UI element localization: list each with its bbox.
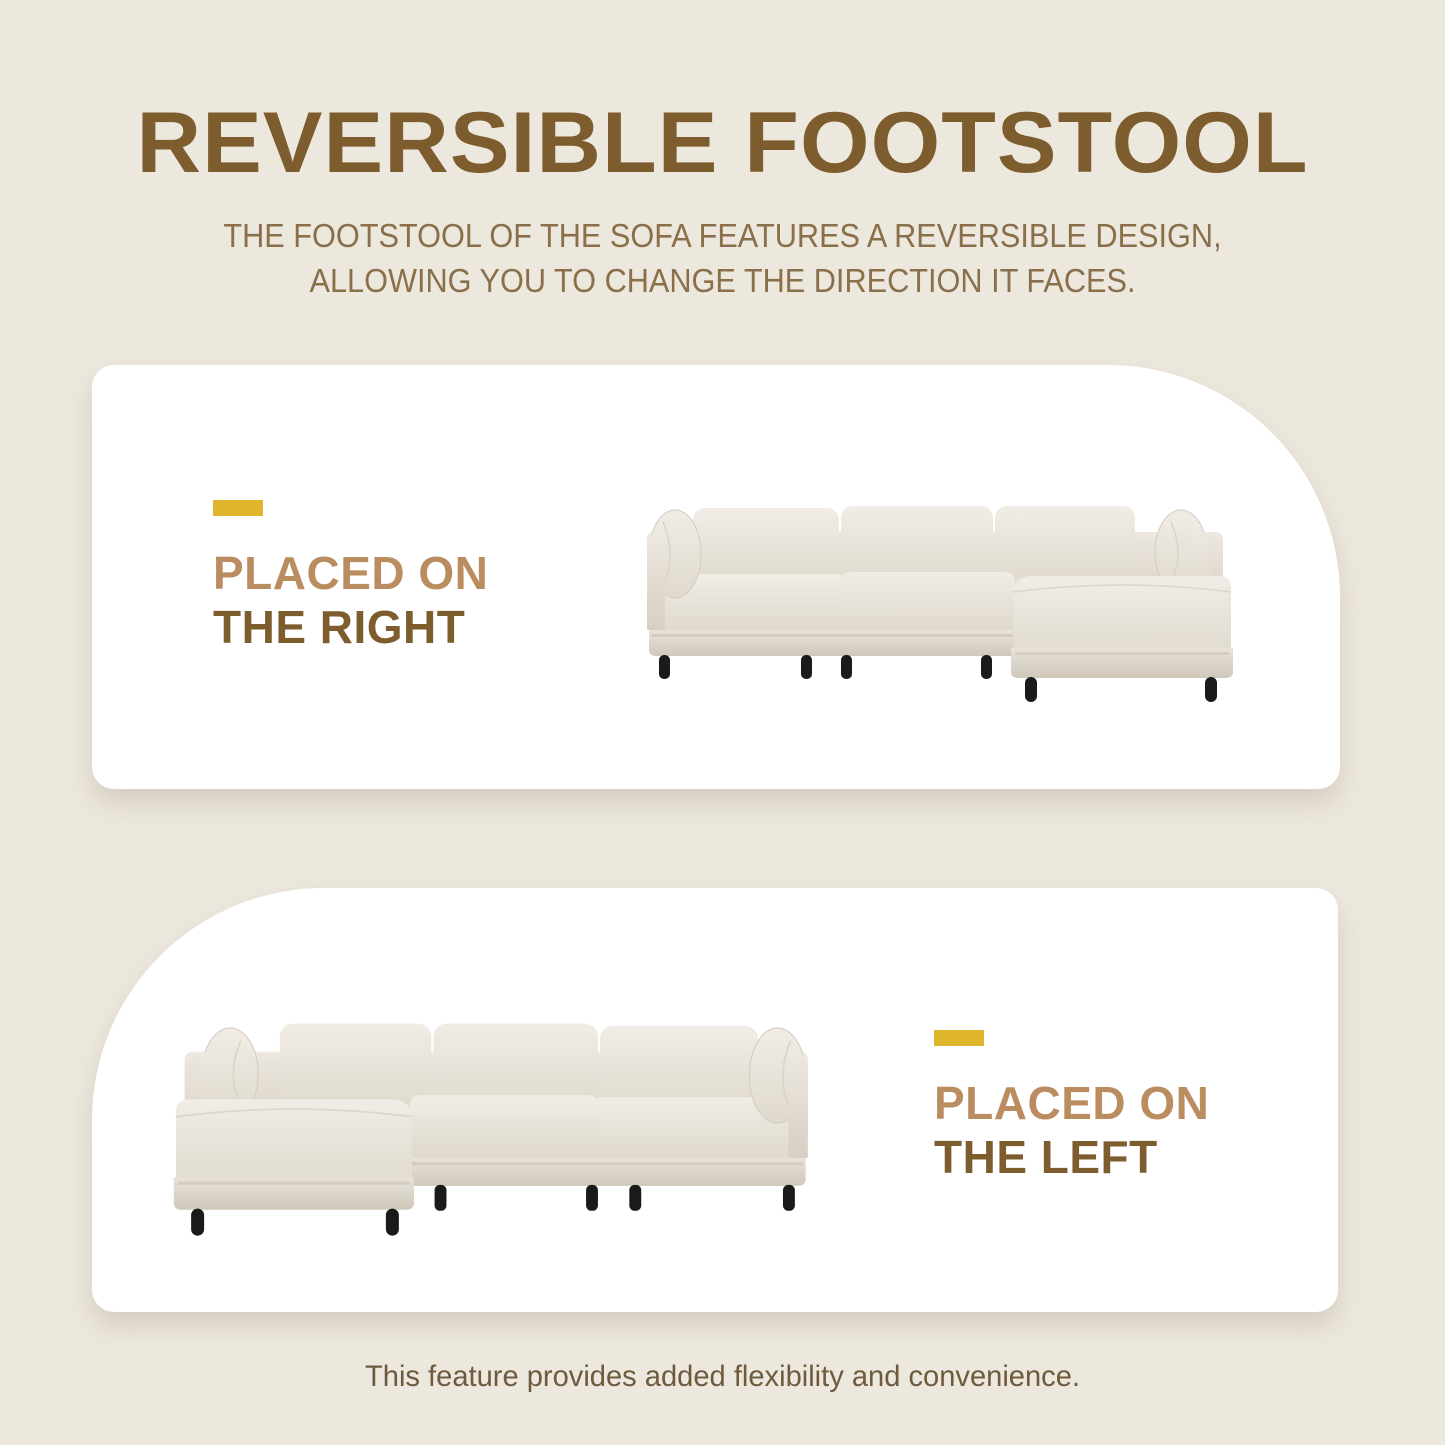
card-2-label-line-2: THE LEFT [934,1130,1209,1184]
card-1-label-line-1: PLACED ON [213,546,488,600]
header: REVERSIBLE FOOTSTOOL THE FOOTSTOOL OF TH… [0,0,1445,303]
sectional-sofa-left-chaise-icon [163,1005,823,1250]
label-block-left: PLACED ON THE LEFT [934,1030,1209,1185]
card-1-label-line-2: THE RIGHT [213,600,488,654]
accent-bar-icon [934,1030,984,1046]
card-2-label-line-1: PLACED ON [934,1076,1209,1130]
footer-caption: This feature provides added flexibility … [22,1360,1424,1394]
page-title: REVERSIBLE FOOTSTOOL [0,100,1445,186]
subtitle: THE FOOTSTOOL OF THE SOFA FEATURES A REV… [51,214,1395,303]
sectional-sofa-right-chaise-icon [633,492,1243,712]
subtitle-line-1: THE FOOTSTOOL OF THE SOFA FEATURES A REV… [51,214,1395,259]
label-block-right: PLACED ON THE RIGHT [213,500,488,655]
subtitle-line-2: ALLOWING YOU TO CHANGE THE DIRECTION IT … [51,259,1395,304]
accent-bar-icon [213,500,263,516]
